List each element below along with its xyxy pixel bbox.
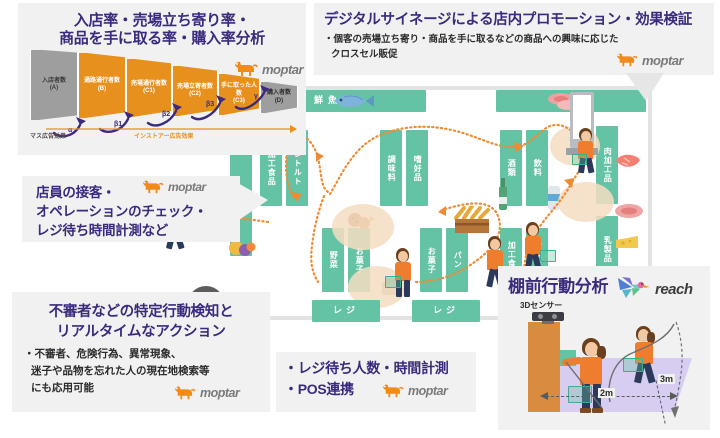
store-entrance [424,322,454,344]
shopper-1 [572,128,602,176]
panel-funnel-analysis: 入店率・売場立ち寄り率・ 商品を手に取る率・購入率分析 入店者数 (A) 通路通… [18,3,306,155]
funnel-title-line2: 商品を手に取る率・購入率分析 [18,27,306,48]
moptar-dog-icon [172,384,196,402]
security-title-line1: 不審者などの特定行動検知と [12,300,270,321]
moptar-logo-signage: moptar [614,51,683,69]
reach-wordmark: reach [655,281,693,298]
shopping-basket [385,276,401,288]
moptar-logo-staff: moptar [140,178,206,196]
staff-line2: オペレーションのチェック・ [36,200,207,220]
pos-line1: ・レジ待ち人数・時間計測 [284,358,448,378]
head [528,225,538,236]
moptar-dog-icon [614,51,638,69]
security-title-line2: リアルタイムなアクション [12,320,270,341]
funnel-conv-beta3: β3 [206,101,214,108]
security-bullet-line1: ・不審者、危険行為、異常現象、 [24,346,182,361]
checkout-2: レジ [412,300,480,322]
dim-label-3m: 3m [658,374,675,384]
panel-shelf-front-analysis: 棚前行動分析 reach 3Dセンサー [498,266,710,430]
trajectory-curves [506,300,702,424]
head [398,251,408,262]
moptar-logo-pos: moptar [380,382,447,400]
moptar-wordmark: moptar [168,180,206,194]
panel-security-detection: 不審者などの特定行動検知と リアルタイムなアクション ・不審者、危険行為、異常現… [12,292,270,412]
security-bullet-line2: 迷子や品物を忘れた人の現在地検索等 [31,363,210,378]
staff-callout-tail [236,178,270,226]
moptar-logo-funnel: moptar [232,59,303,79]
dim-label-2m: 2m [598,388,615,398]
moptar-wordmark: moptar [408,384,447,398]
shelf-analysis-title: 棚前行動分析 [508,272,608,297]
torso [525,236,541,255]
shopper-4 [388,248,420,300]
staff-line3: レジ待ち時間計測など [36,219,168,239]
head [490,239,500,250]
signage-callout-tail [616,73,664,103]
moptar-dog-icon [232,59,258,79]
checkout-1: レジ [312,300,380,322]
funnel-axis-label-left: マス広告効果 [30,131,66,140]
panel-digital-signage: デジタルサイネージによる店内プロモーション・効果検証 ・個客の売場立ち寄り・商品… [314,3,714,75]
moptar-dog-icon [140,178,164,196]
signage-bullet-line2: クロスセル販促 [331,46,398,60]
shelf-analysis-diagram: 3Dセンサー [506,300,702,424]
funnel-conv-gamma: γ [254,93,258,100]
panel-pos-integration: ・レジ待ち人数・時間計測 ・POS連携 moptar [276,352,476,412]
moptar-wordmark: moptar [262,62,303,77]
staff-line1: 店員の接客・ [36,181,115,201]
moptar-logo-security: moptar [172,384,239,402]
legs [404,280,410,297]
funnel-conv-beta2: β2 [162,111,170,118]
checkout-label: レジ [333,306,359,315]
checkout-label: レジ [433,306,459,315]
shopping-basket [572,154,587,165]
moptar-wordmark: moptar [642,53,683,68]
reach-hummingbird-icon [616,276,650,302]
moptar-wordmark: moptar [200,386,239,400]
shopping-basket [540,250,556,262]
signage-bullet-line1: ・個客の売場立ち寄り・商品を手に取るなどの商品への興味に応じた [324,31,619,45]
funnel-axis-label-right: インストアー広告効果 [134,131,194,140]
panel-staff-operations: 店員の接客・ オペレーションのチェック・ レジ待ち時間計測など moptar [22,176,240,242]
security-bullet-line3: にも応用可能 [31,380,94,395]
signage-title: デジタルサイネージによる店内プロモーション・効果検証 [324,8,692,29]
moptar-dog-icon [380,382,404,400]
pos-line2: ・POS連携 [284,379,354,399]
reach-logo: reach [616,276,693,302]
